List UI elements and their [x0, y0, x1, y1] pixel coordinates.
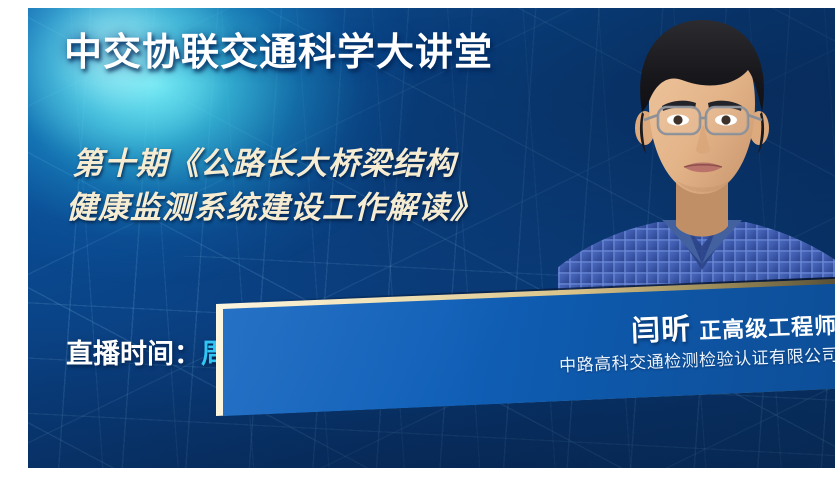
- speaker-panel: 闫昕正高级工程师 中路高科交通检测检验认证有限公司: [216, 276, 835, 436]
- speaker-title: 正高级工程师: [699, 313, 835, 343]
- page-title: 中交协联交通科学大讲堂: [64, 33, 493, 75]
- subtitle-line-1: 第十期《公路长大桥梁结构: [72, 146, 456, 181]
- live-time-label: 直播时间：: [66, 339, 201, 369]
- subtitle-line-2: 健康监测系统建设工作解读》: [66, 186, 482, 230]
- webinar-poster: 中交协联交通科学大讲堂 第十期《公路长大桥梁结构 健康监测系统建设工作解读》 直…: [28, 8, 835, 468]
- session-subtitle: 第十期《公路长大桥梁结构 健康监测系统建设工作解读》: [72, 142, 482, 230]
- speaker-name: 闫昕: [631, 314, 692, 348]
